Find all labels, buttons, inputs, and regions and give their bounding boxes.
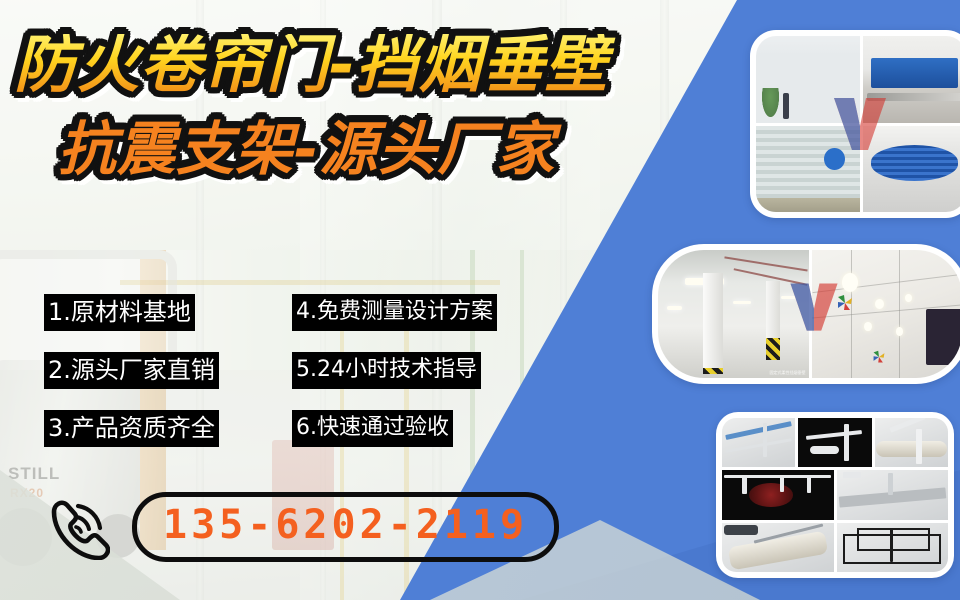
phone-ringing-icon: [44, 494, 110, 560]
installation-site-photos-card: 固定式柔性挡烟垂壁: [652, 244, 960, 384]
photo-duct-hanger-ceiling: [837, 470, 949, 519]
feature-item-4: 4.免费测量设计方案: [292, 294, 497, 331]
feature-item-6: 6.快速通过验收: [292, 410, 453, 447]
bracket-pipe: [725, 421, 792, 440]
feature-item-5: 5.24小时技术指导: [292, 352, 481, 389]
photo-pipe-clamp-closeup: [875, 418, 948, 467]
bracket-hanger: [724, 525, 757, 536]
poster-canvas: STILL RX20 防火卷帘门-挡烟垂壁 抗震支架-源头厂家 1.原材料基地 …: [0, 0, 960, 600]
photo-blue-shutter-coil-roll: [863, 126, 960, 213]
photo-blue-rolling-shutter-door: [756, 36, 860, 123]
garage-light: [781, 296, 796, 299]
photo-steel-frame-bracket-room: [837, 523, 949, 572]
feature-item-3: 3.产品资质齐全: [44, 410, 219, 447]
feature-item-1: 1.原材料基地: [44, 294, 195, 331]
photo-caption: 固定式柔性挡烟垂壁: [770, 370, 806, 376]
ceiling-downlight: [875, 299, 884, 309]
ceiling-grid-line: [812, 274, 960, 293]
bracket-post: [890, 528, 893, 563]
ceiling-downlight: [864, 322, 872, 331]
colorful-pinwheel-decor: [872, 350, 888, 366]
bracket-rail: [724, 475, 831, 477]
ceiling-dark-panel: [926, 309, 960, 365]
bracket-clamp: [916, 429, 923, 465]
bracket-rod: [888, 473, 894, 495]
feature-item-2: 2.源头厂家直销: [44, 352, 219, 389]
bracket-fan: [749, 483, 794, 507]
feature-list: 1.原材料基地 4.免费测量设计方案 2.源头厂家直销 5.24小时技术指导 3…: [44, 294, 564, 468]
bracket-tube: [876, 441, 946, 458]
fire-shutter-product-photos-card: [750, 30, 960, 218]
ceiling-downlight: [842, 273, 859, 292]
ceiling-downlight: [905, 294, 913, 303]
headline-line-1: 防火卷帘门-挡烟垂壁: [14, 34, 704, 96]
bracket-rod: [807, 477, 811, 493]
photo-steel-rolling-shutter-corridor: [756, 126, 860, 213]
bracket-plate: [843, 472, 861, 478]
photo-fan-seismic-support: [722, 470, 834, 519]
ceiling-downlight: [896, 327, 904, 336]
bracket-rail: [725, 438, 792, 453]
garage-light: [733, 301, 751, 304]
bracket-duct: [810, 446, 839, 454]
photo-duct-bracket-black-bg: [798, 418, 871, 467]
bracket-rod: [780, 477, 784, 492]
photo-pipe-bracket-ceiling: [722, 418, 795, 467]
bracket-frame: [857, 528, 930, 552]
photo-shutter-production-machine: [863, 36, 960, 123]
bracket-rod: [742, 477, 746, 494]
bracket-rod: [763, 423, 767, 458]
garage-light: [685, 278, 724, 284]
photo-ventilation-duct-bracket: [722, 523, 834, 572]
phone-number[interactable]: 135-6202-2119: [132, 492, 559, 562]
seismic-bracket-photos-card: [716, 412, 954, 578]
headline-line-2: 抗震支架-源头厂家: [58, 120, 704, 178]
bracket-beam: [806, 430, 862, 440]
contact-row: 135-6202-2119: [44, 492, 559, 562]
photo-underground-parking-garage: 固定式柔性挡烟垂壁: [658, 250, 809, 378]
colorful-pinwheel-decor: [836, 294, 852, 310]
garage-pillar: [766, 281, 780, 360]
ceiling-grid-line: [851, 250, 852, 378]
bracket-rod: [844, 424, 849, 461]
headline-block: 防火卷帘门-挡烟垂壁 抗震支架-源头厂家: [14, 34, 704, 178]
photo-ceiling-lighting-interior: [812, 250, 960, 378]
ceiling-grid-line: [899, 250, 900, 378]
garage-light: [667, 306, 682, 309]
